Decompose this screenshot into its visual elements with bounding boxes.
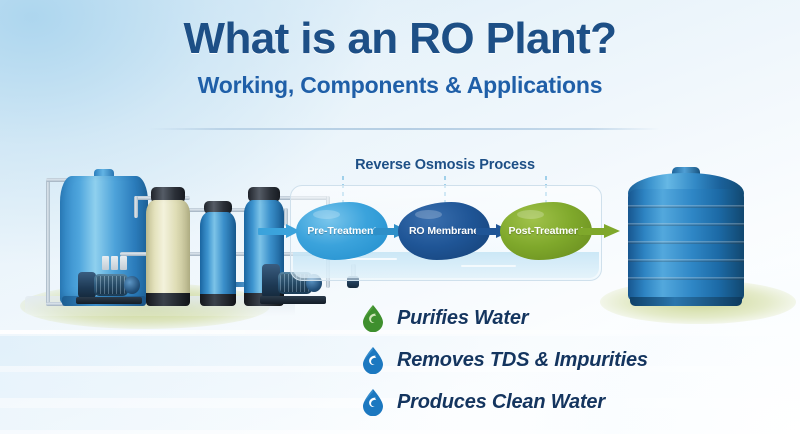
pump-impeller <box>124 276 140 294</box>
pump-base <box>260 296 326 304</box>
page-title: What is an RO Plant? <box>0 16 800 63</box>
header-divider <box>148 128 660 130</box>
highlight-gloss <box>313 210 341 219</box>
highlight-gloss <box>517 210 545 219</box>
pipe-segment <box>134 196 138 218</box>
benefits-list: Purifies Water Removes TDS & Impurities <box>360 298 648 422</box>
treated-water-storage-tank <box>628 189 744 301</box>
control-panel-gauge <box>120 256 127 270</box>
tank-rib <box>628 259 744 262</box>
arrow-shaft <box>374 228 396 235</box>
water-drop-icon <box>360 304 386 332</box>
process-diagram-title: Reverse Osmosis Process <box>290 157 600 173</box>
list-item: Removes TDS & Impurities <box>360 340 648 380</box>
control-panel-gauge <box>102 256 109 270</box>
process-stage-label: Pre-Treatment <box>307 225 376 237</box>
benefit-label: Removes TDS & Impurities <box>397 349 648 372</box>
softener-vessel <box>146 200 190 305</box>
arrow-shaft <box>578 228 606 235</box>
pump-base <box>76 297 142 304</box>
list-item: Purifies Water <box>360 298 648 338</box>
vessel-body <box>146 200 190 305</box>
process-stage-label: Post-Treatment <box>508 225 583 237</box>
pipe-segment <box>46 180 50 306</box>
arrow-shaft <box>476 228 498 235</box>
flow-arrow-outlet <box>578 224 622 238</box>
subtitle-wrap: Working, Components & Applications <box>0 72 800 99</box>
arrow-shaft <box>258 228 288 235</box>
vessel-body <box>200 212 236 305</box>
vessel-base <box>200 294 236 306</box>
list-item: Produces Clean Water <box>360 382 648 422</box>
benefit-label: Purifies Water <box>397 307 528 330</box>
header: What is an RO Plant? Working, Components… <box>0 16 800 99</box>
water-drop-icon <box>360 388 386 416</box>
tank-rib <box>628 205 744 208</box>
pump-motor-fins <box>96 276 126 294</box>
filter-vessel-1 <box>200 212 236 305</box>
infographic-canvas: What is an RO Plant? Working, Components… <box>0 0 800 434</box>
arrow-head <box>604 224 620 238</box>
benefit-label: Produces Clean Water <box>397 391 605 414</box>
tank-rib <box>628 241 744 244</box>
tank-rib <box>628 223 744 226</box>
process-stage-label: RO Membrane <box>409 225 479 237</box>
page-subtitle: Working, Components & Applications <box>198 72 603 98</box>
highlight-gloss <box>415 210 443 219</box>
vessel-base <box>146 293 190 306</box>
tank-rib <box>628 277 744 280</box>
water-drop-icon <box>360 346 386 374</box>
control-panel-gauge <box>111 256 118 270</box>
